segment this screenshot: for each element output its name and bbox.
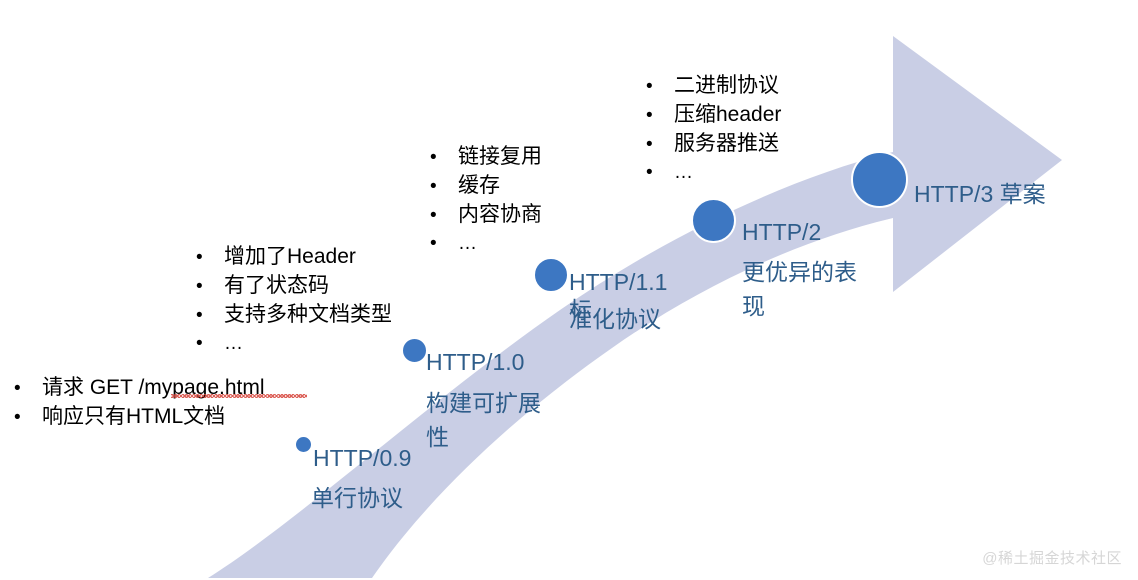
feature-item: • … bbox=[430, 230, 542, 258]
feature-item: • … bbox=[196, 330, 392, 358]
milestone-dot-http11[interactable] bbox=[533, 257, 569, 293]
feature-list-http2: • 二进制协议 • 压缩header • 服务器推送 • … bbox=[646, 72, 781, 187]
spellcheck-underline-icon bbox=[171, 394, 307, 398]
bullet-icon: • bbox=[196, 330, 224, 358]
feature-list-http11: • 链接复用 • 缓存 • 内容协商 • … bbox=[430, 143, 542, 258]
feature-item: • 内容协商 bbox=[430, 201, 542, 230]
milestone-desc-http2: 更优异的表现 bbox=[742, 255, 872, 323]
bullet-icon: • bbox=[646, 102, 674, 130]
milestone-dot-http09[interactable] bbox=[294, 435, 313, 454]
milestone-desc-http09: 单行协议 bbox=[311, 481, 403, 515]
feature-item: • 缓存 bbox=[430, 172, 542, 201]
feature-list-http10: • 增加了Header • 有了状态码 • 支持多种文档类型 • … bbox=[196, 243, 392, 358]
feature-item: • 服务器推送 bbox=[646, 130, 781, 159]
milestone-label-http10: HTTP/1.0 bbox=[426, 348, 524, 376]
feature-item: • 请求 GET /mypage.html bbox=[14, 374, 265, 403]
bullet-icon: • bbox=[14, 404, 42, 432]
feature-item: • 有了状态码 bbox=[196, 272, 392, 301]
milestone-dot-http2[interactable] bbox=[691, 198, 736, 243]
bullet-icon: • bbox=[430, 144, 458, 172]
feature-item: • … bbox=[646, 159, 781, 187]
milestone-label-http3: HTTP/3 草案 bbox=[914, 180, 1046, 208]
diagram-canvas: • 请求 GET /mypage.html • 响应只有HTML文档 • 增加了… bbox=[0, 0, 1138, 580]
bullet-icon: • bbox=[646, 159, 674, 187]
bullet-icon: • bbox=[430, 230, 458, 258]
feature-item: • 二进制协议 bbox=[646, 72, 781, 101]
bullet-icon: • bbox=[196, 273, 224, 301]
milestone-desc-http11: 准化协议 bbox=[569, 302, 689, 336]
bullet-icon: • bbox=[430, 202, 458, 230]
bullet-icon: • bbox=[14, 375, 42, 403]
bullet-icon: • bbox=[646, 131, 674, 159]
watermark: @稀土掘金技术社区 bbox=[982, 547, 1122, 568]
bullet-icon: • bbox=[196, 302, 224, 330]
feature-item: • 支持多种文档类型 bbox=[196, 301, 392, 330]
bullet-icon: • bbox=[646, 73, 674, 101]
milestone-label-http2: HTTP/2 bbox=[742, 218, 821, 246]
milestone-dot-http10[interactable] bbox=[401, 337, 428, 364]
bullet-icon: • bbox=[430, 173, 458, 201]
milestone-desc-http10: 构建可扩展性 bbox=[426, 386, 556, 454]
feature-list-http09: • 请求 GET /mypage.html • 响应只有HTML文档 bbox=[14, 374, 265, 432]
milestone-label-http09: HTTP/0.9 bbox=[313, 444, 411, 472]
feature-item: • 链接复用 bbox=[430, 143, 542, 172]
bullet-icon: • bbox=[196, 244, 224, 272]
feature-item: • 压缩header bbox=[646, 101, 781, 130]
feature-item: • 响应只有HTML文档 bbox=[14, 403, 265, 432]
milestone-dot-http3[interactable] bbox=[851, 151, 908, 208]
feature-item: • 增加了Header bbox=[196, 243, 392, 272]
